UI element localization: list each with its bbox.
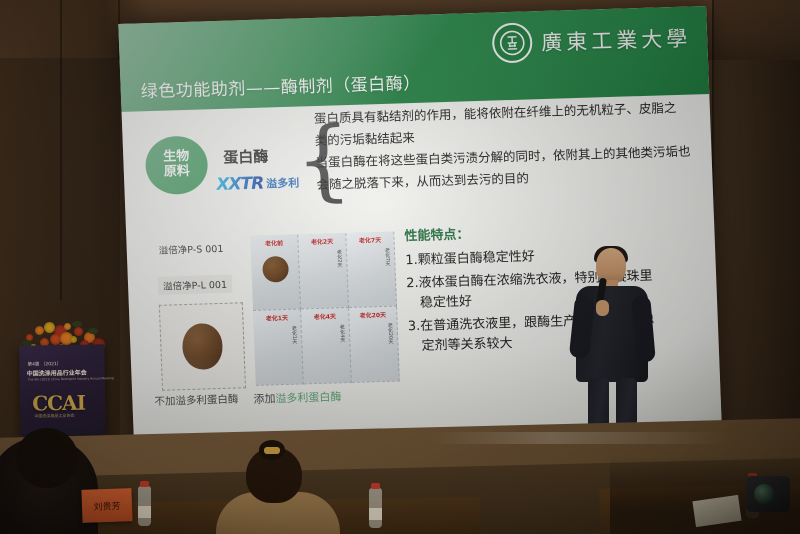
fabric-test-panel: 溢倍净P-S 001 溢倍净P-L 001 老化前老化2天老化2天老化7天老化7… (142, 232, 401, 420)
wall-panel-right (712, 0, 800, 470)
water-bottle-1 (138, 486, 151, 526)
water-bottle-2 (369, 488, 382, 528)
feature-item-1-text: 1.颗粒蛋白酶稳定性好 (405, 249, 535, 268)
university-name: 廣東工業大學 (541, 22, 692, 57)
swatch-aging-tag: 老化7天 (359, 235, 382, 245)
product-label-ps001: 溢倍净P-S 001 (158, 241, 223, 257)
flower-blossom (74, 327, 83, 336)
bottle-cap-1 (140, 481, 149, 487)
podium-line-1: 第4届 （2021） (27, 361, 61, 368)
university-logo: 廣東工業大學 (492, 17, 692, 63)
slide-title: 绿色功能助剂——酶制剂（蛋白酶） (140, 69, 421, 103)
podium-line-3: The 4th (2021) China Detergent Industry … (28, 376, 114, 381)
enzyme-label: 蛋白酶 (223, 145, 269, 167)
delegate-name-text: 刘贵芳 (93, 499, 120, 513)
aging-swatch-grid: 老化前老化2天老化2天老化7天老化7天老化1天老化1天老化4天老化4天老化20天… (250, 232, 400, 386)
product-label-pl001: 溢倍净P-L 001 (158, 275, 233, 295)
description-block: 蛋白质具有黏结剂的作用，能将依附在纤维上的无机粒子、皮脂之 类的污垢黏结起来 当… (314, 96, 717, 196)
university-seal-icon (492, 22, 533, 63)
vendor-name-cn: 溢多利 (266, 175, 300, 192)
vendor-logo: XXTR 溢多利 (216, 173, 300, 196)
swatch-aging-tag: 老化2天 (311, 236, 334, 246)
flower-blossom (64, 323, 71, 330)
swatch-cell: 老化2天老化2天 (298, 233, 349, 309)
delegate-name-card: 刘贵芳 (81, 488, 132, 523)
swatch-cell: 老化7天老化7天 (346, 232, 397, 308)
bottle-label-1 (138, 506, 151, 518)
swatch-aging-tag: 老化1天 (266, 313, 289, 323)
audience-left-head (16, 428, 78, 488)
swatch-vertical-tag: 老化1天 (291, 326, 299, 344)
control-swatch-photo (159, 302, 246, 391)
swatch-cell: 老化4天老化4天 (301, 308, 352, 384)
caption-with-enzyme: 添加溢多利蛋白酶 (253, 388, 342, 407)
swatch-aging-tag: 老化20天 (360, 310, 387, 320)
audience-center-hair-clip (264, 447, 280, 454)
caption-with-enzyme-highlight: 溢多利蛋白酶 (275, 390, 341, 405)
vendor-mark-text: XXTR (216, 174, 264, 195)
presenter (560, 248, 670, 448)
bottle-label-2 (369, 508, 382, 520)
swatch-cell: 老化1天老化1天 (253, 309, 304, 385)
swatch-vertical-tag: 老化7天 (384, 248, 392, 266)
stage-edge-highlight (430, 432, 730, 444)
swatch-aging-tag: 老化前 (265, 238, 283, 248)
bottle-cap-2 (371, 483, 380, 489)
screenshot-root: 绿色功能助剂——酶制剂（蛋白酶） 廣東工業大學 生物 原料 蛋白酶 (0, 0, 800, 534)
control-stain (182, 323, 224, 370)
bio-badge-line2: 原料 (164, 165, 191, 180)
ccai-logo: CCAI (32, 391, 85, 416)
swatch-aging-tag: 老化4天 (314, 311, 337, 321)
swatch-cell: 老化前 (250, 235, 301, 311)
flower-blossom (70, 336, 77, 343)
presenter-hand (596, 300, 609, 316)
bio-material-badge: 生物 原料 (145, 135, 209, 195)
swatch-vertical-tag: 老化20天 (387, 323, 395, 345)
caption-with-enzyme-prefix: 添加 (253, 392, 275, 406)
swatch-cell: 老化20天老化20天 (349, 307, 400, 383)
ccai-logo-subtitle: 中国洗涤用品工业协会 (34, 413, 74, 420)
features-title: 性能特点： (404, 216, 705, 244)
swatch-vertical-tag: 老化2天 (336, 249, 344, 267)
flower-blossom (35, 326, 44, 335)
caption-without-enzyme: 不加溢多利蛋白酶 (154, 391, 239, 409)
podium: 第4届 （2021） 中国洗涤用品行业年会 The 4th (2021) Chi… (19, 344, 106, 435)
flower-leaf (72, 321, 82, 327)
camera-equipment (746, 476, 790, 512)
swatch-stain (262, 256, 289, 283)
swatch-vertical-tag: 老化4天 (339, 324, 347, 342)
flower-leaf (88, 328, 98, 334)
